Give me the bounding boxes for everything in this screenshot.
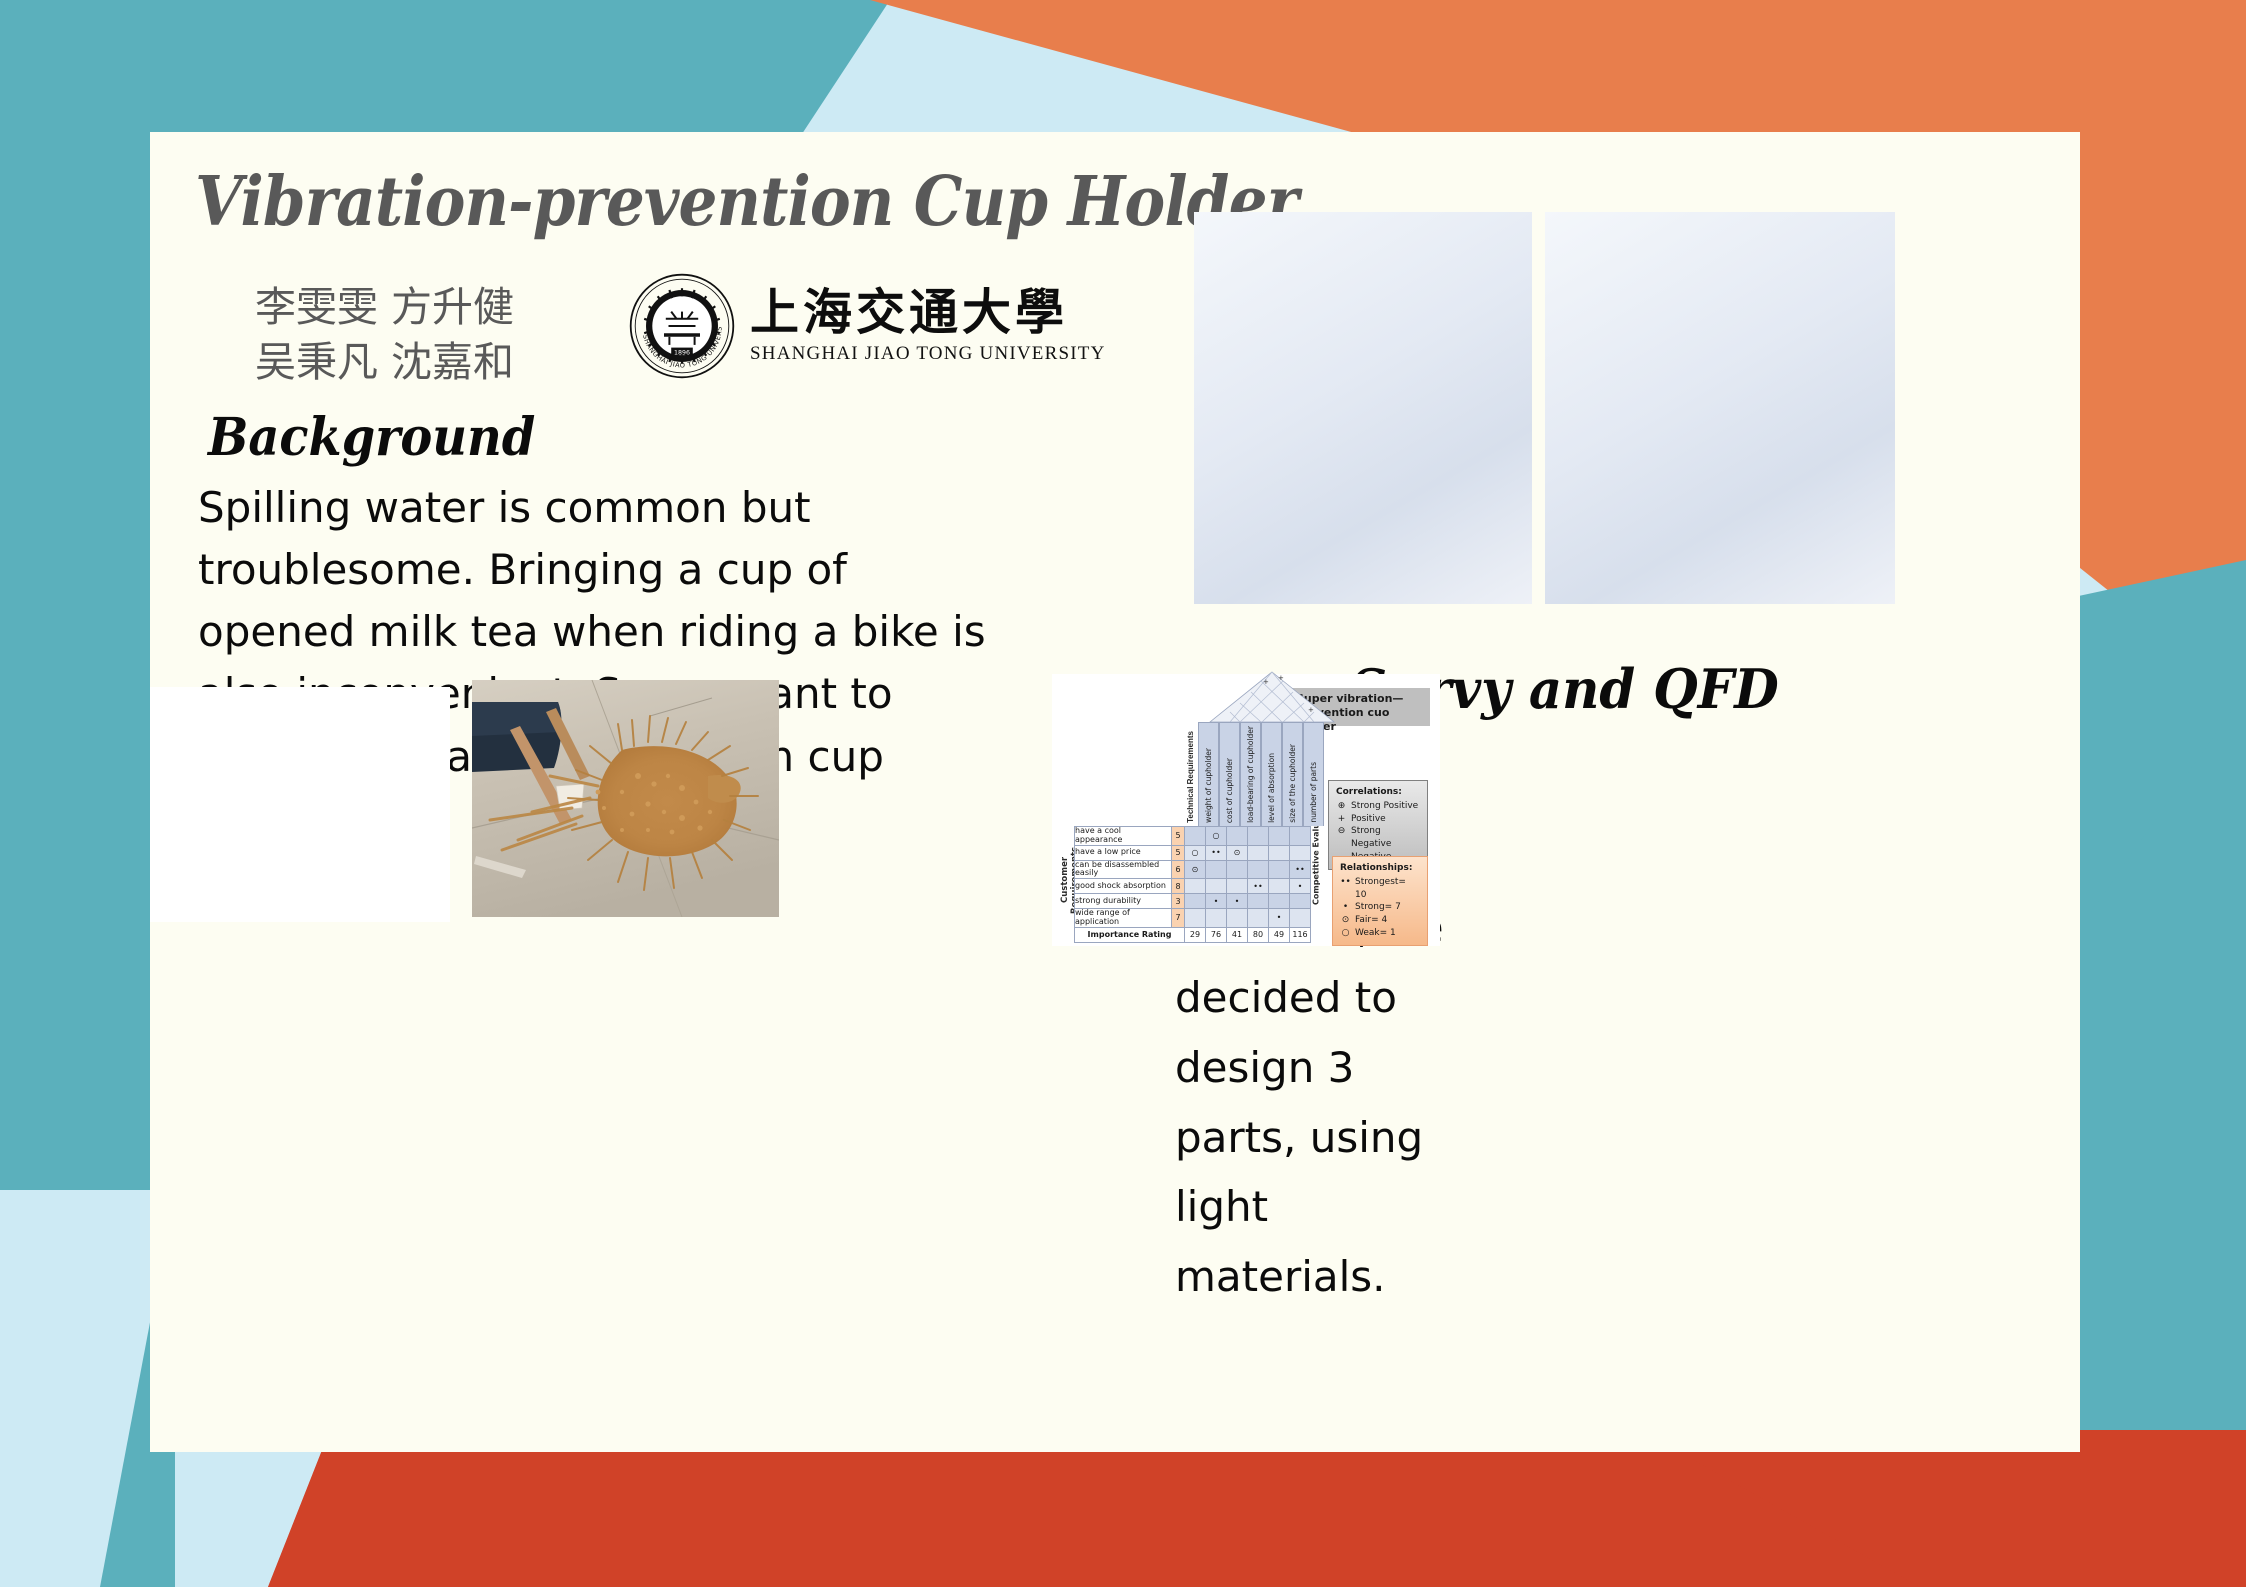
- cell-0-0: [1185, 827, 1206, 846]
- strong-icon: •: [1340, 901, 1351, 914]
- tech-header-4: size of the cupholder: [1282, 722, 1303, 826]
- rating-4: 49: [1269, 927, 1290, 942]
- importance-3: 8: [1172, 879, 1185, 894]
- importance-5: 7: [1172, 909, 1185, 928]
- positive-icon: +: [1336, 813, 1347, 826]
- rating-1: 76: [1206, 927, 1227, 942]
- cell-5-4: •: [1269, 909, 1290, 928]
- cell-1-4: [1269, 845, 1290, 860]
- cad-render-left: [1194, 212, 1532, 604]
- qfd-matrix: have a cool appearance 5 ○ have a low pr…: [1074, 826, 1311, 943]
- spill-photo: [472, 680, 779, 917]
- cell-0-1: ○: [1206, 827, 1227, 846]
- cell-0-2: [1227, 827, 1248, 846]
- rating-2: 41: [1227, 927, 1248, 942]
- tech-header-1: cost of cupholder: [1219, 722, 1240, 826]
- cell-1-5: [1290, 845, 1311, 860]
- strong-positive-icon: ⊕: [1336, 800, 1347, 813]
- strongest-icon: ••: [1340, 876, 1351, 902]
- cell-1-3: [1248, 845, 1269, 860]
- cell-4-1: •: [1206, 894, 1227, 909]
- page-title: Vibration-prevention Cup Holder: [195, 162, 1298, 242]
- cell-5-0: [1185, 909, 1206, 928]
- tech-header-0: weight of cupholder: [1198, 722, 1219, 826]
- background-heading: Background: [208, 407, 535, 468]
- bg-teal-left-lower: [0, 175, 175, 1280]
- legend-item: • Strong= 7: [1340, 901, 1420, 914]
- tech-header-3: level of absorption: [1261, 722, 1282, 826]
- strong-negative-icon: ⊖: [1336, 825, 1347, 851]
- table-row: have a cool appearance 5 ○: [1075, 827, 1311, 846]
- importance-rating-row: Importance Rating 29 76 41 80 49 116: [1075, 927, 1311, 942]
- importance-rating-label: Importance Rating: [1075, 927, 1185, 942]
- legend-label: Fair= 4: [1355, 914, 1387, 927]
- author-line-1: 李雯雯 方升健: [255, 280, 514, 335]
- cell-0-5: [1290, 827, 1311, 846]
- legend-item: + Positive: [1336, 813, 1420, 826]
- table-row: wide range of application 7 •: [1075, 909, 1311, 928]
- table-row: strong durability 3 • •: [1075, 894, 1311, 909]
- poster-panel: Vibration-prevention Cup Holder 李雯雯 方升健 …: [150, 132, 2080, 1452]
- cell-1-0: ○: [1185, 845, 1206, 860]
- legend-label: Strongest= 10: [1355, 876, 1420, 902]
- cell-2-2: [1227, 860, 1248, 879]
- cell-4-3: [1248, 894, 1269, 909]
- relationships-legend: Relationships: •• Strongest= 10 • Strong…: [1332, 856, 1428, 946]
- technical-requirements-title: Technical Requirements: [1184, 722, 1198, 826]
- cell-3-3: ••: [1248, 879, 1269, 894]
- cell-0-4: [1269, 827, 1290, 846]
- customer-req-5: wide range of application: [1075, 909, 1172, 928]
- legend-item: ⊖ Strong Negative: [1336, 825, 1420, 851]
- legend-label: Positive: [1351, 813, 1386, 826]
- cell-4-5: [1290, 894, 1311, 909]
- svg-text:+: +: [1278, 674, 1284, 682]
- cell-4-2: •: [1227, 894, 1248, 909]
- cell-2-0: ⊙: [1185, 860, 1206, 879]
- cell-5-1: [1206, 909, 1227, 928]
- qfd-roof: + + +: [1198, 670, 1346, 726]
- legend-label: Strong= 7: [1355, 901, 1401, 914]
- svg-text:1896: 1896: [674, 349, 690, 356]
- table-row: good shock absorption 8 •• •: [1075, 879, 1311, 894]
- legend-item: ⊕ Strong Positive: [1336, 800, 1420, 813]
- correlations-legend-title: Correlations:: [1336, 786, 1420, 799]
- cell-5-3: [1248, 909, 1269, 928]
- cell-0-3: [1248, 827, 1269, 846]
- importance-1: 5: [1172, 845, 1185, 860]
- rating-3: 80: [1248, 927, 1269, 942]
- svg-text:+: +: [1263, 678, 1269, 686]
- cell-5-2: [1227, 909, 1248, 928]
- sjtu-seal-icon: 1896 SHANGHAI JIAO TONG UNIVERSITY: [628, 272, 736, 380]
- legend-label: Strong Negative: [1351, 825, 1420, 851]
- cell-3-1: [1206, 879, 1227, 894]
- author-list: 李雯雯 方升健 吴秉凡 沈嘉和: [255, 280, 514, 391]
- legend-label: Strong Positive: [1351, 800, 1418, 813]
- legend-item: •• Strongest= 10: [1340, 876, 1420, 902]
- importance-2: 6: [1172, 860, 1185, 879]
- cell-4-4: [1269, 894, 1290, 909]
- table-row: can be disassembled easily 6 ⊙ ••: [1075, 860, 1311, 879]
- cell-5-5: [1290, 909, 1311, 928]
- customer-req-1: have a low price: [1075, 845, 1172, 860]
- qfd-chart: Super vibration—prevention cuo holder Cu…: [1052, 674, 1440, 946]
- table-row: have a low price 5 ○ •• ⊙: [1075, 845, 1311, 860]
- rating-5: 116: [1290, 927, 1311, 942]
- tech-header-2: load-bearing of cupholder: [1240, 722, 1261, 826]
- university-name-block: 上海交通大學 SHANGHAI JIAO TONG UNIVERSITY: [750, 287, 1106, 364]
- legend-label: Weak= 1: [1355, 927, 1396, 940]
- tech-header-5: number of parts: [1303, 722, 1324, 826]
- cell-3-4: [1269, 879, 1290, 894]
- relationships-legend-title: Relationships:: [1340, 862, 1420, 875]
- rating-0: 29: [1185, 927, 1206, 942]
- cell-3-0: [1185, 879, 1206, 894]
- svg-text:+: +: [1308, 706, 1314, 714]
- spill-illustration: [150, 687, 450, 922]
- technical-requirements-headers: Technical Requirements weight of cuphold…: [1184, 722, 1324, 826]
- cell-1-2: ⊙: [1227, 845, 1248, 860]
- customer-req-3: good shock absorption: [1075, 879, 1172, 894]
- university-name-en: SHANGHAI JIAO TONG UNIVERSITY: [750, 343, 1106, 365]
- cell-2-3: [1248, 860, 1269, 879]
- cell-3-5: •: [1290, 879, 1311, 894]
- bg-red-bottom-wedge: [268, 1430, 1920, 1587]
- university-logo: 1896 SHANGHAI JIAO TONG UNIVERSITY 上海交通大…: [628, 272, 1106, 380]
- legend-item: ○ Weak= 1: [1340, 927, 1420, 940]
- university-name-cn: 上海交通大學: [750, 287, 1106, 338]
- cell-2-4: [1269, 860, 1290, 879]
- cell-1-1: ••: [1206, 845, 1227, 860]
- cell-3-2: [1227, 879, 1248, 894]
- customer-req-0: have a cool appearance: [1075, 827, 1172, 846]
- milk-tea-spill-photo: [472, 680, 779, 917]
- cad-render-right: [1545, 212, 1895, 604]
- weak-icon: ○: [1340, 927, 1351, 940]
- fair-icon: ⊙: [1340, 914, 1351, 927]
- customer-req-4: strong durability: [1075, 894, 1172, 909]
- cell-2-1: [1206, 860, 1227, 879]
- customer-req-2: can be disassembled easily: [1075, 860, 1172, 879]
- author-line-2: 吴秉凡 沈嘉和: [255, 335, 514, 390]
- importance-0: 5: [1172, 827, 1185, 846]
- cell-4-0: [1185, 894, 1206, 909]
- importance-4: 3: [1172, 894, 1185, 909]
- cell-2-5: ••: [1290, 860, 1311, 879]
- legend-item: ⊙ Fair= 4: [1340, 914, 1420, 927]
